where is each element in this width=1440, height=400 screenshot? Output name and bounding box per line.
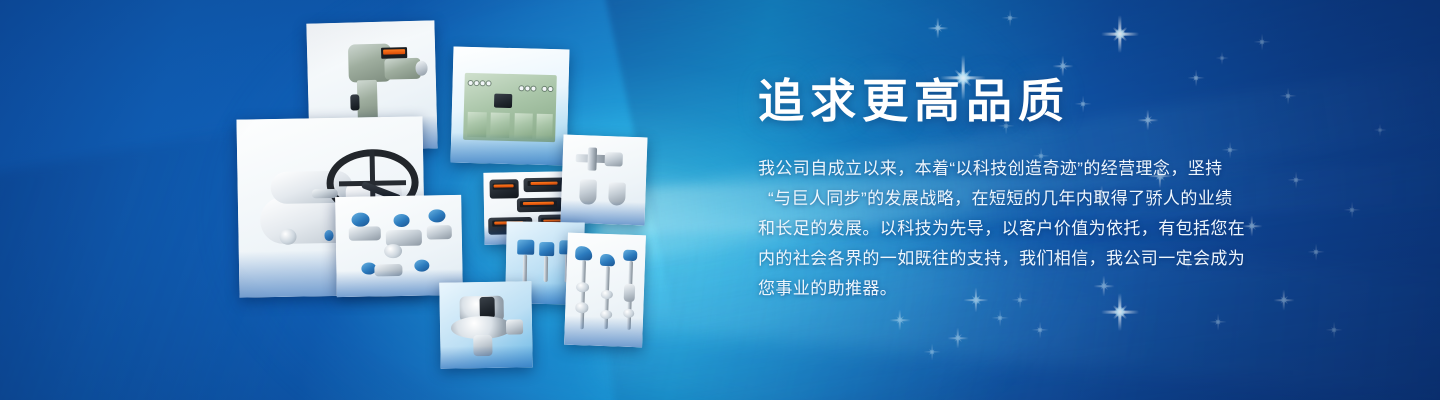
paragraph-line: “与巨人同步”的发展战略，在短短的几年内取得了骄人的业绩 xyxy=(758,184,1298,214)
hero-banner: 追求更高品质 我公司自成立以来，本着“以科技创造奇迹”的经营理念，坚持 “与巨人… xyxy=(0,0,1440,400)
paragraph-line: 内的社会各界的一如既往的支持，我们相信，我公司一定会成为 xyxy=(758,244,1298,274)
banner-paragraph: 我公司自成立以来，本着“以科技创造奇迹”的经营理念，坚持 “与巨人同步”的发展战… xyxy=(758,154,1298,304)
banner-copy: 追求更高品质 我公司自成立以来，本着“以科技创造奇迹”的经营理念，坚持 “与巨人… xyxy=(758,78,1298,304)
paragraph-line: 和长足的发展。以科技为先导，以客户价值为依托，有包括您在 xyxy=(758,214,1298,244)
paragraph-line: 您事业的助推器。 xyxy=(758,274,1298,304)
paragraph-line: 我公司自成立以来，本着“以科技创造奇迹”的经营理念，坚持 xyxy=(758,154,1298,184)
banner-headline: 追求更高品质 xyxy=(758,78,1298,124)
